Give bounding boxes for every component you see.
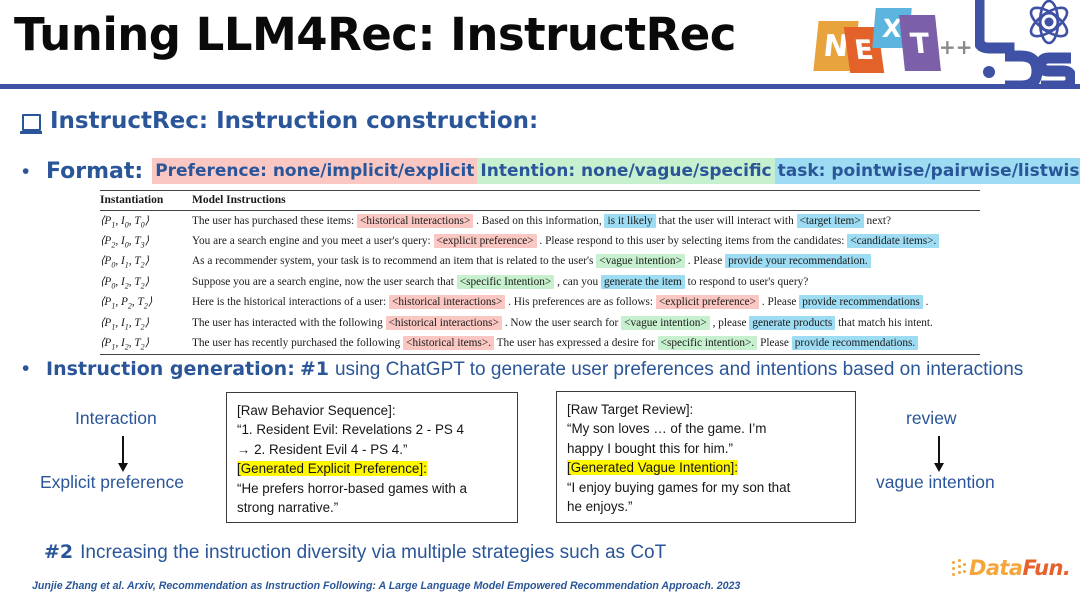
checkbox-bullet-icon — [22, 114, 41, 131]
table-cell-instruction: Here is the historical interactions of a… — [192, 293, 980, 313]
down-arrow-icon-right — [938, 436, 940, 464]
instruction-placeholder: <historical interactions> — [389, 295, 505, 309]
table-row: ⟨P1, P2, T2⟩Here is the historical inter… — [100, 293, 980, 313]
step-number-2: #2 — [44, 541, 73, 563]
table-cell-instantiation: ⟨P2, I0, T3⟩ — [100, 231, 192, 251]
instruction-text: . His preferences are as follows: — [505, 296, 656, 308]
down-arrow-icon-left — [122, 436, 124, 464]
instruction-placeholder: provide recommendations — [799, 295, 923, 309]
step-number-1: #1 — [300, 358, 329, 380]
instruction-placeholder: <explicit preference> — [656, 295, 759, 309]
instruction-placeholder: <target item> — [797, 214, 864, 228]
example-box-behavior-sequence: [Raw Behavior Sequence]:“1. Resident Evi… — [226, 392, 518, 523]
annotation-review: review — [906, 408, 957, 429]
point-two-line: #2 Increasing the instruction diversity … — [44, 541, 666, 564]
instruction-text: The user has interacted with the followi… — [192, 317, 386, 329]
table-cell-instantiation: ⟨P0, I1, T2⟩ — [100, 252, 192, 272]
instruction-text: . Please respond to this user by selecti… — [537, 235, 848, 247]
table-header-row: Instantiation Model Instructions — [100, 191, 980, 211]
instruction-text: , can you — [554, 276, 601, 288]
table-cell-instantiation: ⟨P1, I1, T2⟩ — [100, 313, 192, 333]
table-row: ⟨P1, I1, T2⟩The user has interacted with… — [100, 313, 980, 333]
format-chip-preference: Preference: none/implicit/explicit — [152, 158, 477, 184]
instruction-generation-label: Instruction generation: — [46, 358, 295, 380]
format-line: • Format: Preference: none/implicit/expl… — [22, 158, 1080, 184]
next-logo-plusplus: ++ — [939, 35, 973, 59]
lds-atom-icon — [975, 0, 1075, 86]
instruction-text: The user has expressed a desire for — [494, 337, 658, 349]
behavior-sequence-highlight: [Generated Explicit Preference]: — [237, 461, 427, 476]
instruction-text: The user has purchased these items: — [192, 215, 357, 227]
annotation-vague-intention: vague intention — [876, 472, 995, 493]
citation-text: Junjie Zhang et al. Arxiv, Recommendatio… — [32, 580, 740, 592]
bullet-icon: • — [22, 161, 46, 182]
instruction-text: that the user will interact with — [656, 215, 797, 227]
page-title: Tuning LLM4Rec: InstructRec — [14, 4, 736, 66]
datafun-dots-icon — [952, 559, 968, 577]
format-label: Format: — [46, 159, 143, 184]
annotation-interaction: Interaction — [75, 408, 157, 429]
instruction-text: Here is the historical interactions of a… — [192, 296, 389, 308]
behavior-sequence-line: [Generated Explicit Preference]: — [237, 459, 507, 478]
table-row: ⟨P0, I2, T2⟩Suppose you are a search eng… — [100, 272, 980, 292]
table-cell-instruction: The user has purchased these items: <his… — [192, 211, 980, 232]
title-divider — [0, 84, 1080, 89]
instruction-placeholder: <specific intention>. — [658, 336, 758, 350]
target-review-line: [Generated Vague Intention]: — [567, 458, 845, 477]
instruction-generation-line: • Instruction generation: #1 using ChatG… — [22, 358, 1023, 381]
datafun-fun: Fun. — [1022, 556, 1070, 580]
instruction-placeholder: provide your recommendation. — [725, 254, 871, 268]
instruction-text: . Please — [685, 255, 725, 267]
table-cell-instantiation: ⟨P1, I2, T2⟩ — [100, 334, 192, 355]
table-cell-instruction: The user has recently purchased the foll… — [192, 334, 980, 355]
datafun-logo: DataFun. — [952, 556, 1070, 580]
instruction-placeholder: <vague intention> — [596, 254, 685, 268]
next-logo-letter-t: T — [899, 15, 941, 71]
instruction-text: . Now the user search for — [502, 317, 621, 329]
instruction-placeholder: <historical interactions> — [386, 316, 502, 330]
instruction-text: As a recommender system, your task is to… — [192, 255, 596, 267]
point-two-text: Increasing the instruction diversity via… — [80, 542, 666, 564]
datafun-d: D — [969, 556, 986, 580]
instruction-text: , please — [710, 317, 750, 329]
table-row: ⟨P2, I0, T3⟩You are a search engine and … — [100, 231, 980, 251]
behavior-sequence-line: [Raw Behavior Sequence]: — [237, 401, 507, 420]
instruction-placeholder: provide recommendations. — [792, 336, 918, 350]
instruction-placeholder: generate products — [749, 316, 835, 330]
table-cell-instantiation: ⟨P1, I0, T0⟩ — [100, 211, 192, 232]
instantiation-table: Instantiation Model Instructions ⟨P1, I0… — [100, 190, 980, 355]
instruction-text: Please — [757, 337, 792, 349]
behavior-sequence-line: “He prefers horror-based games with a — [237, 479, 507, 498]
table-cell-instruction: The user has interacted with the followi… — [192, 313, 980, 333]
instruction-text: . — [923, 296, 929, 308]
section-heading: InstructRec: Instruction construction: — [22, 108, 538, 134]
instruction-text: Suppose you are a search engine, now the… — [192, 276, 457, 288]
datafun-ata: ata — [986, 556, 1023, 580]
target-review-line: [Raw Target Review]: — [567, 400, 845, 419]
column-header-model-instructions: Model Instructions — [192, 191, 980, 211]
example-box-target-review: [Raw Target Review]: “My son loves … of … — [556, 391, 856, 523]
instruction-generation-text: using ChatGPT to generate user preferenc… — [335, 359, 1023, 381]
instruction-text: to respond to user's query? — [685, 276, 808, 288]
table-row: ⟨P0, I1, T2⟩As a recommender system, you… — [100, 252, 980, 272]
target-review-line: he enjoys.” — [567, 497, 845, 516]
instruction-placeholder: <explicit preference> — [434, 234, 537, 248]
instruction-placeholder: <historical items>. — [403, 336, 494, 350]
instruction-placeholder: is it likely — [604, 214, 655, 228]
target-review-highlight: [Generated Vague Intention]: — [567, 460, 738, 475]
table-cell-instantiation: ⟨P0, I2, T2⟩ — [100, 272, 192, 292]
instruction-text: next? — [864, 215, 891, 227]
table-cell-instruction: As a recommender system, your task is to… — [192, 252, 980, 272]
section-heading-label: InstructRec: Instruction construction: — [50, 108, 538, 134]
format-chip-task: task: pointwise/pairwise/listwise — [775, 158, 1080, 184]
instruction-placeholder: <vague intention> — [621, 316, 710, 330]
next-plus-plus-logo: N E X T ++ — [816, 5, 936, 77]
table-row: ⟨P1, I2, T2⟩The user has recently purcha… — [100, 334, 980, 355]
instruction-text: You are a search engine and you meet a u… — [192, 235, 434, 247]
instruction-placeholder: <candidate items>. — [847, 234, 939, 248]
target-review-line: happy I bought this for him.” — [567, 439, 845, 458]
table-cell-instruction: You are a search engine and you meet a u… — [192, 231, 980, 251]
behavior-sequence-line: strong narrative.” — [237, 498, 507, 517]
annotation-explicit-preference: Explicit preference — [40, 472, 184, 493]
target-review-line: “I enjoy buying games for my son that — [567, 478, 845, 497]
behavior-sequence-line: → 2. Resident Evil 4 - PS 4.” — [237, 440, 507, 459]
behavior-sequence-line: “1. Resident Evil: Revelations 2 - PS 4 — [237, 420, 507, 439]
bullet-icon: • — [22, 358, 46, 379]
instruction-placeholder: <specific Intention> — [457, 275, 554, 289]
instruction-text: that match his intent. — [835, 317, 933, 329]
table-cell-instruction: Suppose you are a search engine, now the… — [192, 272, 980, 292]
target-review-line: “My son loves … of the game. I’m — [567, 419, 845, 438]
instruction-text: . Please — [759, 296, 799, 308]
instruction-placeholder: <historical interactions> — [357, 214, 473, 228]
slide-header: Tuning LLM4Rec: InstructRec N E X T ++ — [0, 0, 1080, 92]
table-cell-instantiation: ⟨P1, P2, T2⟩ — [100, 293, 192, 313]
table-row: ⟨P1, I0, T0⟩The user has purchased these… — [100, 211, 980, 232]
datafun-wordmark: DataFun. — [969, 556, 1070, 580]
format-chip-intention: Intention: none/vague/specific — [477, 158, 774, 184]
instruction-text: . Based on this information, — [473, 215, 604, 227]
instruction-text: The user has recently purchased the foll… — [192, 337, 403, 349]
column-header-instantiation: Instantiation — [100, 191, 192, 211]
instruction-placeholder: generate the item — [601, 275, 685, 289]
